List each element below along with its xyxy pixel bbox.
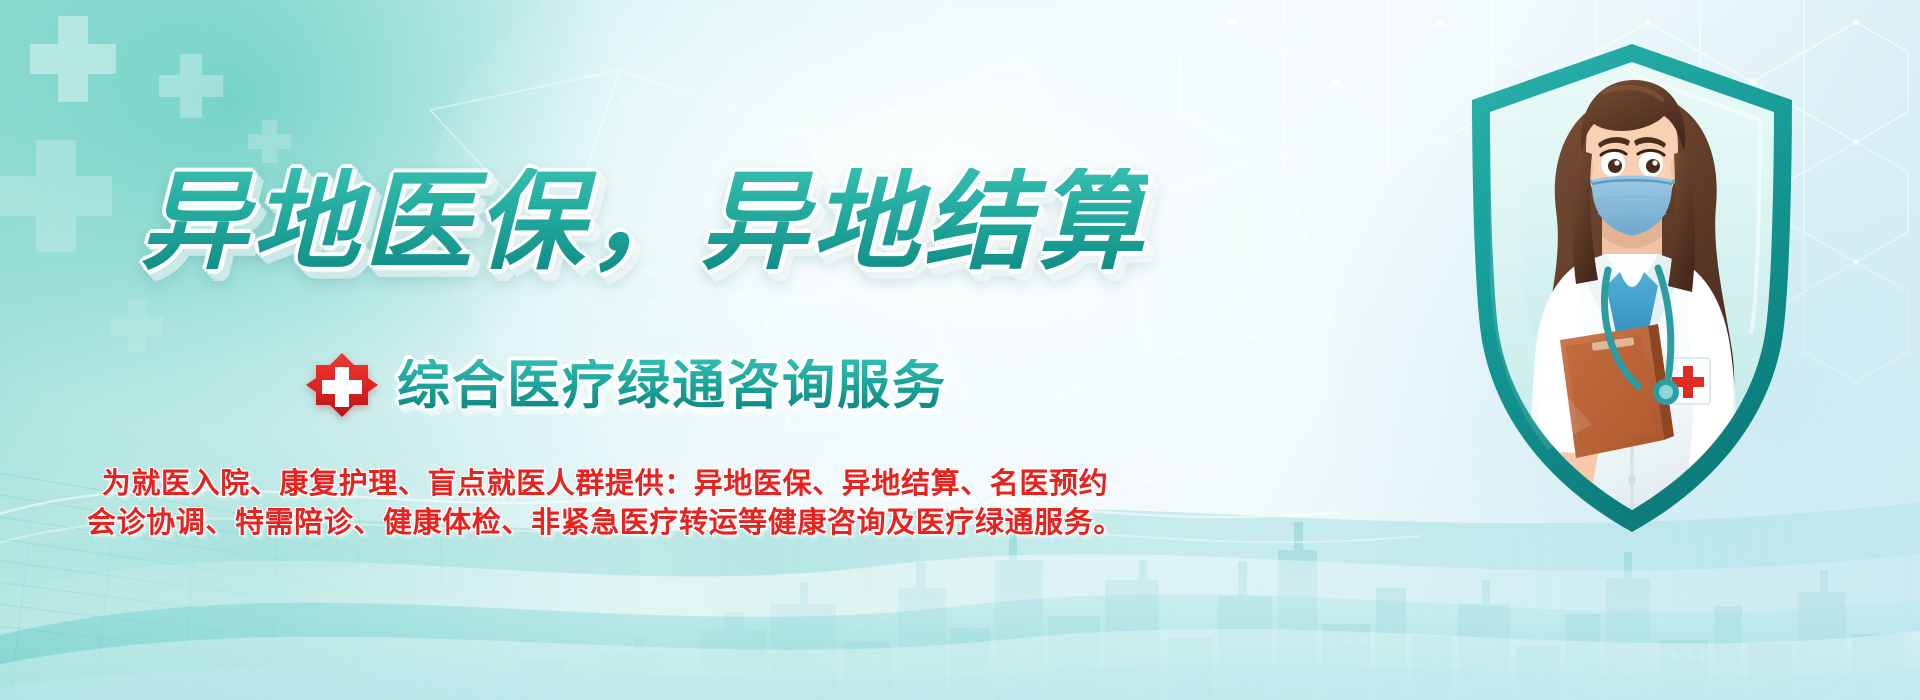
red-cross-icon (305, 352, 379, 418)
page-title: 异地医保，异地结算 (140, 168, 1148, 276)
description-line-2: 会诊协调、特需陪诊、健康体检、非紧急医疗转运等健康咨询及医疗绿通服务。 (0, 504, 1210, 543)
description-line-1: 为就医入院、康复护理、盲点就医人群提供：异地医保、异地结算、名医预约 (0, 465, 1210, 504)
banner-content: 异地医保，异地结算 综合医疗绿通咨询服务 为就医 (0, 0, 1250, 700)
subtitle-row: 综合医疗绿通咨询服务 (305, 352, 947, 418)
description-block: 为就医入院、康复护理、盲点就医人群提供：异地医保、异地结算、名医预约 会诊协调、… (0, 465, 1210, 543)
medical-service-banner: 异地医保，异地结算 综合医疗绿通咨询服务 为就医 (0, 0, 1920, 700)
doctor-shield-badge (1452, 40, 1812, 540)
subtitle: 综合医疗绿通咨询服务 (397, 359, 947, 412)
stethoscope-chestpiece (1653, 379, 1679, 405)
